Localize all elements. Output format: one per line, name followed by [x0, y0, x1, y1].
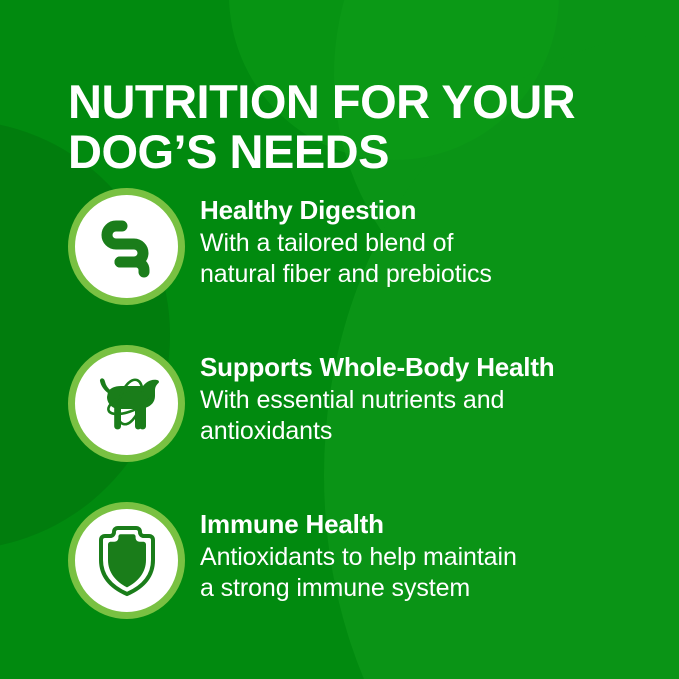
- feature-description: Antioxidants to help maintain a strong i…: [200, 542, 670, 604]
- feature-list: Healthy Digestion With a tailored blend …: [0, 188, 679, 659]
- nutrition-infographic: Nutrition for your dog’s needs Healthy D…: [0, 0, 679, 679]
- feature-title: Immune Health: [200, 510, 670, 540]
- page-title: Nutrition for your dog’s needs: [68, 77, 628, 177]
- feature-text-block: Healthy Digestion With a tailored blend …: [200, 196, 670, 290]
- feature-text-block: Supports Whole-Body Health With essentia…: [200, 353, 670, 447]
- dog-whole-body-icon: [68, 345, 185, 462]
- shield-icon: [68, 502, 185, 619]
- feature-title: Healthy Digestion: [200, 196, 670, 226]
- intestine-icon: [68, 188, 185, 305]
- feature-description: With essential nutrients and antioxidant…: [200, 385, 670, 447]
- list-item: Healthy Digestion With a tailored blend …: [0, 188, 679, 345]
- feature-description: With a tailored blend of natural fiber a…: [200, 228, 670, 290]
- list-item: Supports Whole-Body Health With essentia…: [0, 345, 679, 502]
- feature-title: Supports Whole-Body Health: [200, 353, 670, 383]
- list-item: Immune Health Antioxidants to help maint…: [0, 502, 679, 659]
- feature-text-block: Immune Health Antioxidants to help maint…: [200, 510, 670, 604]
